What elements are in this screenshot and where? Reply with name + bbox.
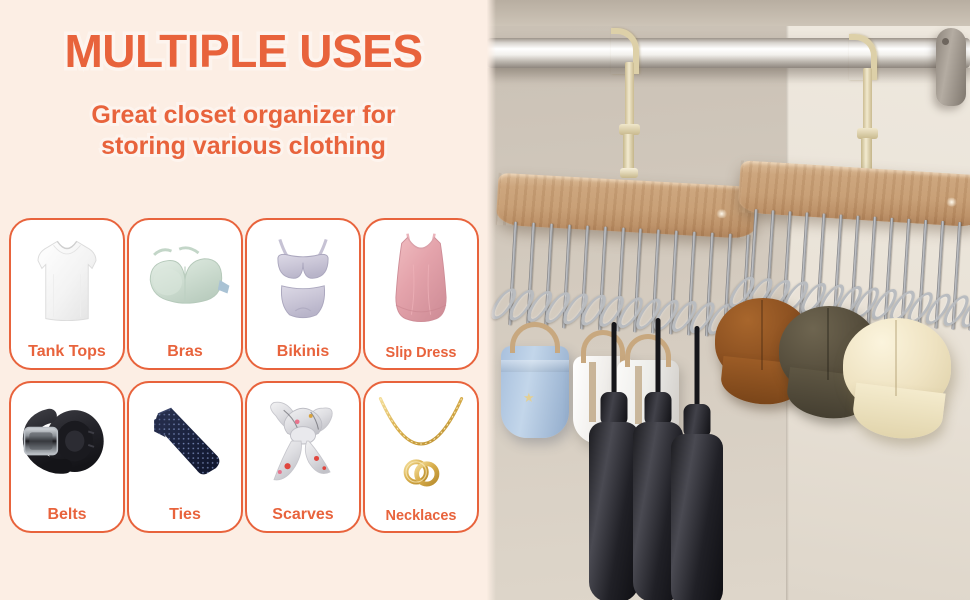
- card-label: Belts: [11, 506, 123, 524]
- subtitle-line-2: storing various clothing: [0, 131, 487, 162]
- card-label: Ties: [129, 506, 241, 524]
- use-case-card-scarves[interactable]: Scarves: [245, 381, 361, 533]
- gold-hook-right: [849, 34, 871, 182]
- use-case-card-bras[interactable]: Bras: [127, 218, 243, 370]
- card-label: Bras: [129, 343, 241, 361]
- ceiling: [487, 0, 970, 26]
- tank-top-icon: [11, 224, 123, 336]
- card-label: Bikinis: [247, 343, 359, 361]
- use-case-card-belts[interactable]: Belts: [9, 381, 125, 533]
- subtitle-line-1: Great closet organizer for: [91, 101, 395, 129]
- rod-bracket: [936, 28, 966, 106]
- cap-cream: [843, 318, 951, 412]
- info-panel: MULTIPLE USES Great closet organizer for…: [0, 0, 487, 600]
- umbrella-1: [589, 322, 639, 600]
- closet-rod: [487, 38, 970, 68]
- use-case-card-necklaces[interactable]: Necklaces: [363, 381, 479, 533]
- page-subtitle: Great closet organizer for storing vario…: [0, 100, 487, 161]
- bra-icon: [129, 224, 241, 336]
- use-case-card-ties[interactable]: Ties: [127, 381, 243, 533]
- use-case-card-tank-tops[interactable]: Tank Tops: [9, 218, 125, 370]
- gold-hook-left: [611, 28, 633, 178]
- slip-dress-icon: [365, 224, 477, 336]
- product-photo: ★: [487, 0, 970, 600]
- use-case-card-slip-dress[interactable]: Slip Dress: [363, 218, 479, 370]
- scarf-icon: [247, 387, 359, 499]
- card-label: Tank Tops: [11, 343, 123, 361]
- handbag-blue: ★: [501, 346, 569, 438]
- photo-edge-fade: [487, 0, 496, 600]
- belt-icon: [11, 387, 123, 499]
- use-case-card-bikinis[interactable]: Bikinis: [245, 218, 361, 370]
- page-title: MULTIPLE USES: [0, 24, 487, 78]
- card-label: Scarves: [247, 506, 359, 524]
- product-infographic: MULTIPLE USES Great closet organizer for…: [0, 0, 970, 600]
- bikini-icon: [247, 224, 359, 336]
- card-label: Necklaces: [365, 508, 477, 524]
- card-label: Slip Dress: [365, 345, 477, 361]
- tie-icon: [129, 387, 241, 499]
- use-case-grid: Tank Tops Bras: [9, 218, 479, 533]
- rod-shadow: [487, 68, 970, 84]
- necklace-icon: [365, 387, 477, 499]
